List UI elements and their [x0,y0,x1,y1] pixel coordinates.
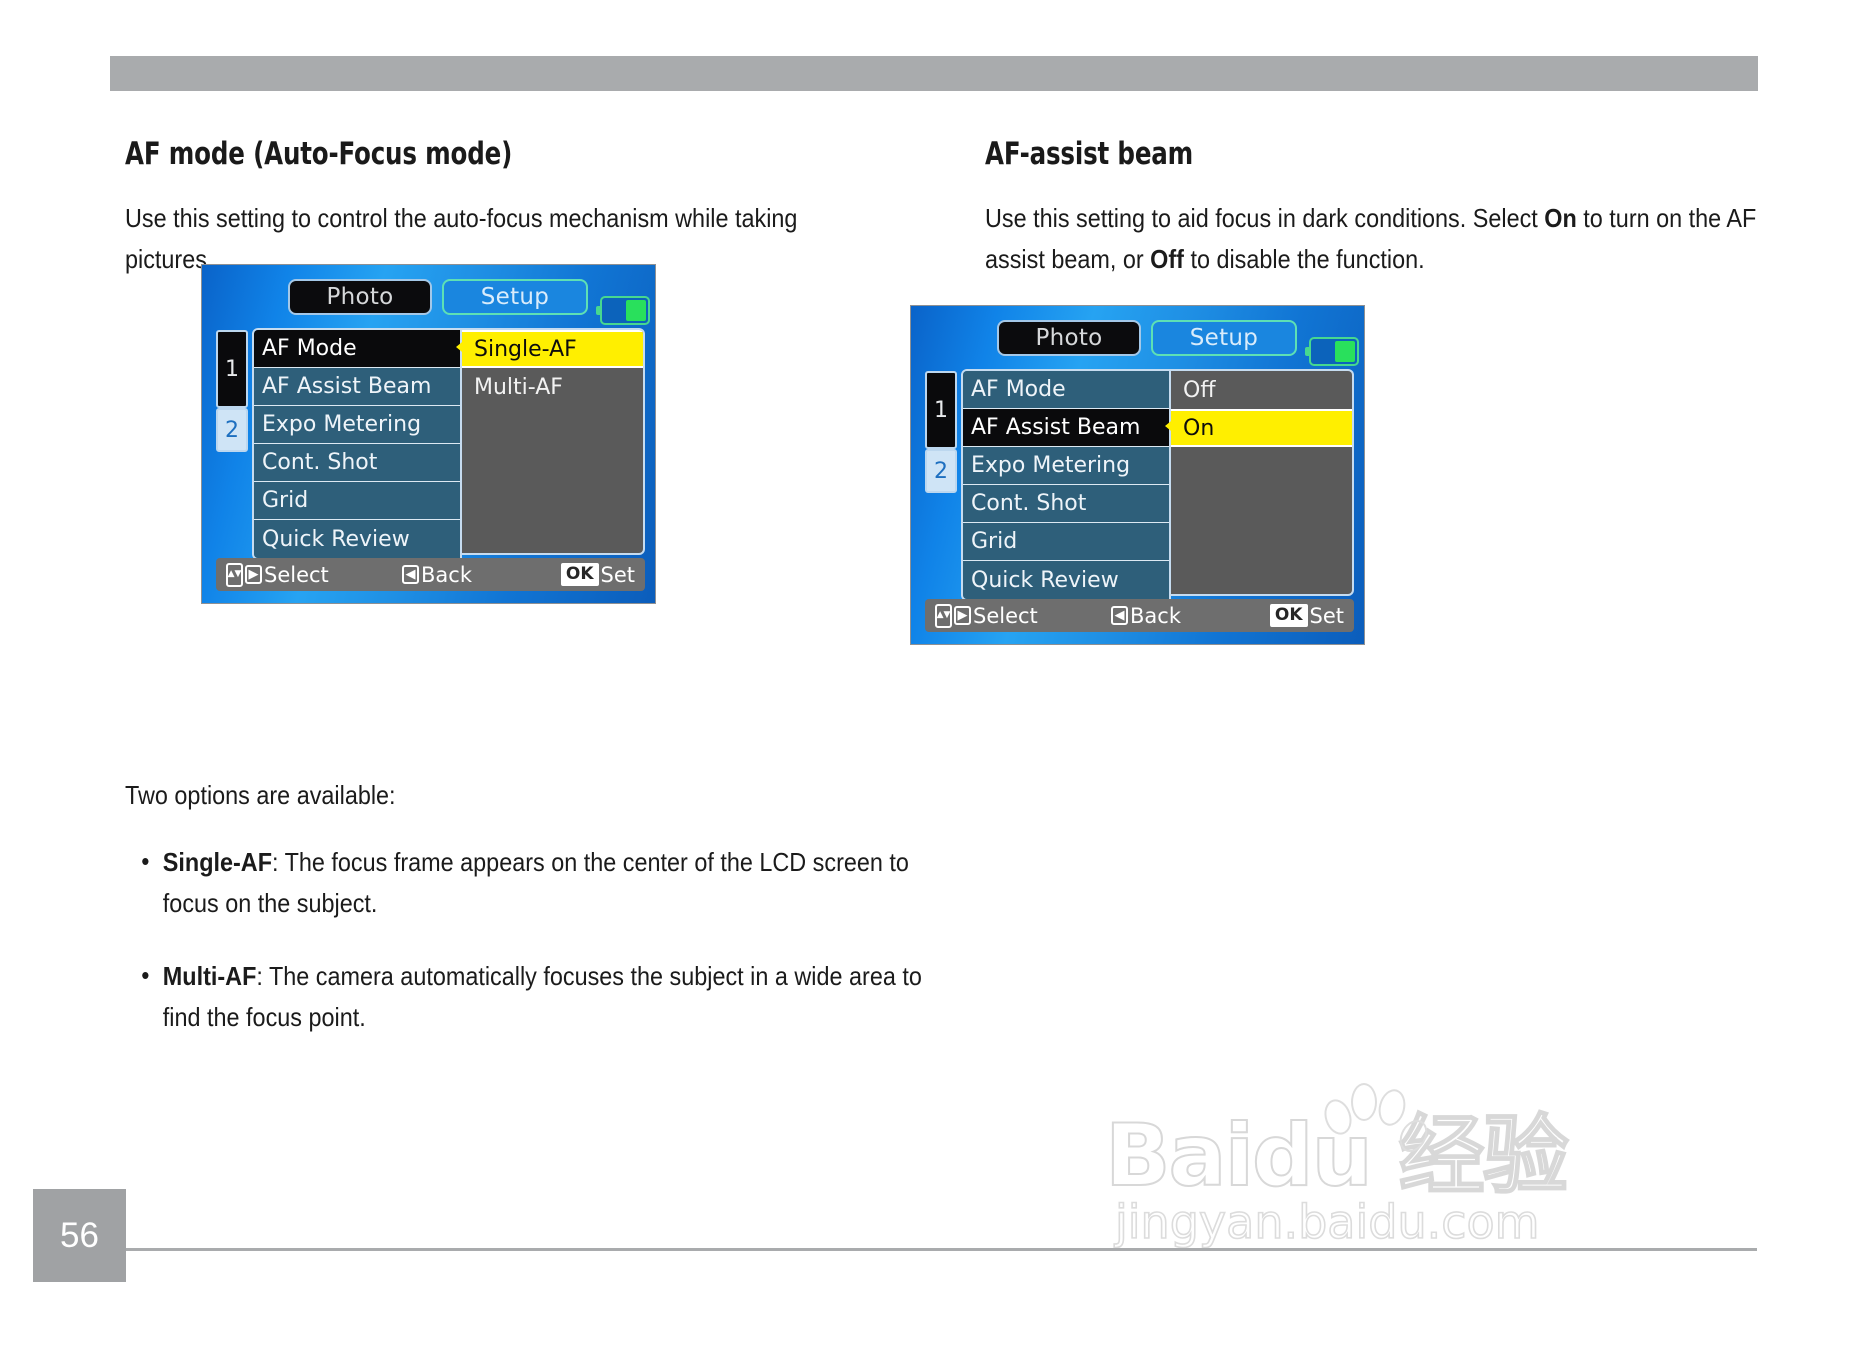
ok-key-icon: OK [561,563,599,586]
lcd1-value-multi-af[interactable]: Multi-AF [462,368,643,406]
dpad-icon: ▲▼ [226,563,243,587]
lcd2-hint-set: OK Set [1270,604,1344,628]
lcd1-menu-item-af-mode[interactable]: AF Mode [254,330,460,368]
af-assist-intro-part3: to disable the function. [1184,244,1425,274]
lcd2-tab-row: Photo Setup [911,320,1364,356]
lcd2-page-indicator-1[interactable]: 1 [925,371,957,449]
watermark-sub-text: jingyan.baidu.com [1115,1195,1540,1249]
lcd1-hint-select-label: Select [264,563,329,587]
list-item: Single-AF: The focus frame appears on th… [125,842,931,924]
lcd1-menu-item-grid[interactable]: Grid [254,482,460,520]
lcd1-page-indicator-2[interactable]: 2 [216,408,248,452]
lcd2-page-number-column: 1 2 [925,371,957,493]
lcd2-menu-item-expo-metering[interactable]: Expo Metering [963,447,1169,485]
lcd2-tab-setup[interactable]: Setup [1151,320,1297,356]
lcd2-panel: 1 2 AF Mode AF Assist Beam Expo Metering… [925,369,1354,596]
lcd2-hint-set-label: Set [1310,604,1344,628]
footer-rule [126,1248,1757,1251]
lcd1-hint-bar: ▲▼ ▶ Select ◀ Back OK Set [216,558,645,591]
right-column: AF-assist beam Use this setting to aid f… [985,136,1760,280]
af-assist-bold-off: Off [1150,244,1184,274]
lcd1-tab-row: Photo Setup [202,279,655,315]
lcd2-menu-item-grid[interactable]: Grid [963,523,1169,561]
lcd1-menu-item-quick-review[interactable]: Quick Review [254,520,460,558]
option-term-single-af: Single-AF [163,847,272,877]
page-title-af-mode: AF mode (Auto-Focus mode) [125,136,794,172]
lcd2-hint-back-label: Back [1130,604,1181,628]
lcd1-panel: 1 2 AF Mode AF Assist Beam Expo Metering… [216,328,645,555]
lcd1-hint-back: ◀ Back [402,563,472,587]
lcd2-hint-select-label: Select [973,604,1038,628]
lcd1-value-list: Single-AF Multi-AF [462,328,645,555]
lcd1-menu-item-cont-shot[interactable]: Cont. Shot [254,444,460,482]
lcd2-menu-item-af-mode[interactable]: AF Mode [963,371,1169,409]
af-mode-lead-text: Two options are available: [125,775,914,816]
lcd1-menu-list: AF Mode AF Assist Beam Expo Metering Con… [252,328,462,560]
lcd1-hint-set-label: Set [601,563,635,587]
lcd2-selection-caret-icon [1165,417,1176,435]
page-title-af-assist-beam: AF-assist beam [985,136,1667,172]
baidu-paw-icon [1301,1075,1421,1185]
lcd1-hint-back-label: Back [421,563,472,587]
lcd1-menu-item-af-assist-beam[interactable]: AF Assist Beam [254,368,460,406]
lcd2-value-off[interactable]: Off [1171,371,1352,409]
page-number-badge: 56 [33,1189,126,1282]
lcd2-tab-photo[interactable]: Photo [997,320,1141,356]
lcd1-tab-photo[interactable]: Photo [288,279,432,315]
lcd1-value-single-af[interactable]: Single-AF [462,330,643,368]
option-desc-single-af: : The focus frame appears on the center … [163,847,909,918]
lcd1-selection-caret-icon [456,338,467,356]
option-desc-multi-af: : The camera automatically focuses the s… [163,961,922,1032]
lcd1-page-number-column: 1 2 [216,330,248,452]
left-arrow-icon: ◀ [1111,606,1128,625]
af-assist-intro-text: Use this setting to aid focus in dark co… [985,198,1759,280]
af-mode-option-list: Single-AF: The focus frame appears on th… [125,842,915,1038]
page-header-bar [110,56,1758,91]
lcd2-value-on[interactable]: On [1171,409,1352,447]
watermark-main-text: Baidu 经验 [1105,1085,1567,1210]
lcd-screenshot-af-mode: Photo Setup 1 2 AF Mode AF Assist Beam E… [201,264,656,604]
battery-icon [1309,337,1359,366]
option-term-multi-af: Multi-AF [163,961,257,991]
lcd2-menu-item-quick-review[interactable]: Quick Review [963,561,1169,599]
lcd1-page-indicator-1[interactable]: 1 [216,330,248,408]
ok-key-icon: OK [1270,604,1308,627]
battery-icon [600,296,650,325]
lcd2-menu-item-cont-shot[interactable]: Cont. Shot [963,485,1169,523]
left-column: AF mode (Auto-Focus mode) Use this setti… [125,136,885,280]
lcd2-value-list: Off On [1171,369,1354,596]
lcd2-menu-list: AF Mode AF Assist Beam Expo Metering Con… [961,369,1171,601]
af-mode-options-block: Two options are available: Single-AF: Th… [125,775,915,1070]
lcd1-hint-select: ▲▼ ▶ Select [226,563,329,587]
af-assist-bold-on: On [1544,203,1576,233]
af-assist-intro-part1: Use this setting to aid focus in dark co… [985,203,1544,233]
lcd-screenshot-af-assist-beam: Photo Setup 1 2 AF Mode AF Assist Beam E… [910,305,1365,645]
list-item: Multi-AF: The camera automatically focus… [125,956,931,1038]
right-arrow-icon: ▶ [245,565,262,584]
lcd2-hint-select: ▲▼ ▶ Select [935,604,1038,628]
right-arrow-icon: ▶ [954,606,971,625]
dpad-icon: ▲▼ [935,604,952,628]
lcd2-menu-item-af-assist-beam[interactable]: AF Assist Beam [963,409,1169,447]
lcd1-tab-setup[interactable]: Setup [442,279,588,315]
lcd2-hint-back: ◀ Back [1111,604,1181,628]
lcd1-menu-item-expo-metering[interactable]: Expo Metering [254,406,460,444]
lcd1-hint-set: OK Set [561,563,635,587]
lcd2-hint-bar: ▲▼ ▶ Select ◀ Back OK Set [925,599,1354,632]
left-arrow-icon: ◀ [402,565,419,584]
lcd2-page-indicator-2[interactable]: 2 [925,449,957,493]
